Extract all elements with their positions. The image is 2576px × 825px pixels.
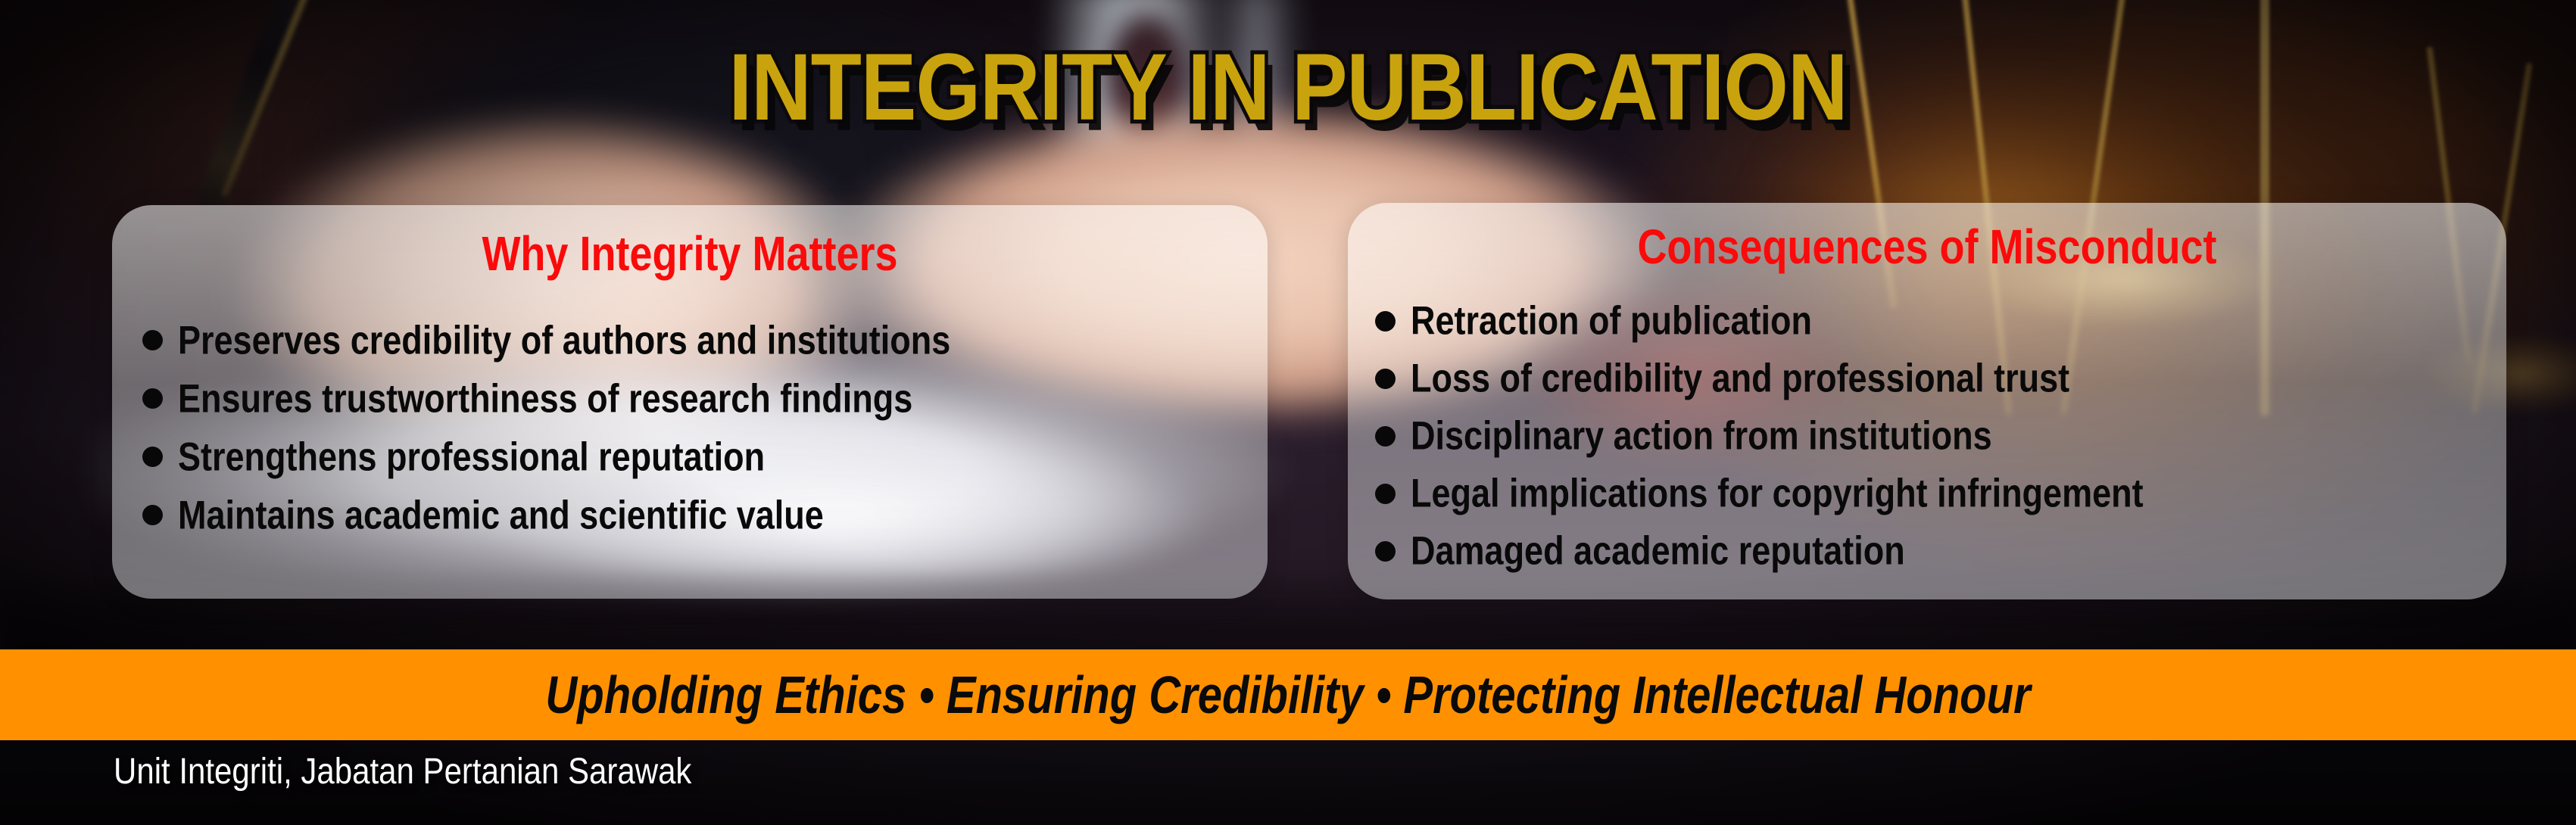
page-title: INTEGRITY IN PUBLICATION (0, 32, 2576, 142)
left-card-bullet-list: Preserves credibility of authors and ins… (142, 311, 1268, 544)
list-item: Damaged academic reputation (1375, 522, 2506, 580)
why-integrity-matters-card: Why Integrity Matters Preserves credibil… (112, 205, 1268, 599)
list-item-label: Damaged academic reputation (1411, 528, 1905, 574)
list-item: Strengthens professional reputation (142, 428, 1268, 486)
bullet-dot-icon (1375, 426, 1396, 447)
list-item-label: Disciplinary action from institutions (1411, 412, 1992, 459)
footer-attribution: Unit Integriti, Jabatan Pertanian Sarawa… (114, 751, 691, 792)
list-item-label: Strengthens professional reputation (178, 434, 765, 480)
tagline-strip: Upholding Ethics • Ensuring Credibility … (0, 649, 2576, 740)
list-item-label: Retraction of publication (1411, 297, 1812, 344)
tagline-text: Upholding Ethics • Ensuring Credibility … (545, 665, 2030, 725)
list-item-label: Ensures trustworthiness of research find… (178, 375, 912, 422)
poster-root: INTEGRITY IN PUBLICATION Why Integrity M… (0, 0, 2576, 825)
list-item: Disciplinary action from institutions (1375, 407, 2506, 465)
list-item-label: Maintains academic and scientific value (178, 492, 824, 538)
right-card-bullet-list: Retraction of publication Loss of credib… (1375, 292, 2506, 580)
list-item: Preserves credibility of authors and ins… (142, 311, 1268, 369)
left-card-heading: Why Integrity Matters (112, 226, 1268, 282)
bullet-dot-icon (142, 447, 163, 467)
list-item: Retraction of publication (1375, 292, 2506, 350)
list-item: Loss of credibility and professional tru… (1375, 350, 2506, 407)
bullet-dot-icon (1375, 311, 1396, 332)
bullet-dot-icon (142, 505, 163, 525)
consequences-of-misconduct-card: Consequences of Misconduct Retraction of… (1348, 203, 2506, 599)
right-card-heading: Consequences of Misconduct (1348, 219, 2506, 275)
list-item: Maintains academic and scientific value (142, 486, 1268, 544)
list-item: Legal implications for copyright infring… (1375, 465, 2506, 522)
list-item-label: Legal implications for copyright infring… (1411, 470, 2144, 516)
bullet-dot-icon (1375, 484, 1396, 504)
bullet-dot-icon (142, 388, 163, 409)
bullet-dot-icon (1375, 369, 1396, 389)
bullet-dot-icon (142, 330, 163, 350)
list-item-label: Preserves credibility of authors and ins… (178, 317, 950, 363)
list-item: Ensures trustworthiness of research find… (142, 369, 1268, 428)
list-item-label: Loss of credibility and professional tru… (1411, 355, 2069, 401)
bullet-dot-icon (1375, 541, 1396, 562)
